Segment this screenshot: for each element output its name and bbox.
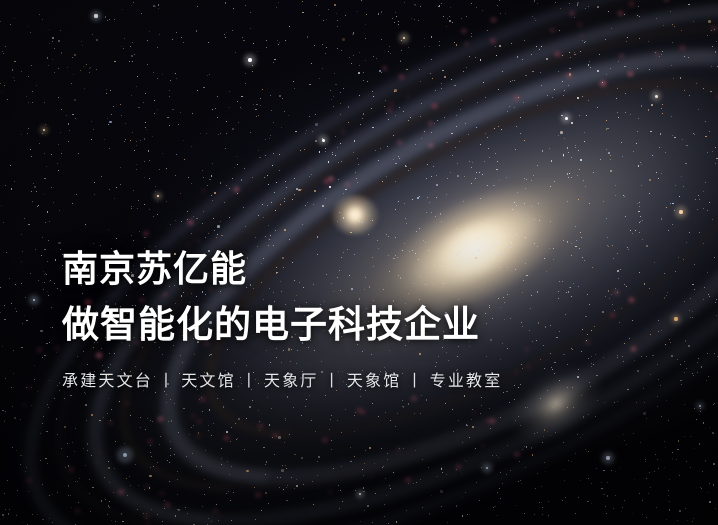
star bbox=[91, 414, 92, 415]
star bbox=[252, 400, 253, 401]
star bbox=[378, 13, 379, 14]
star bbox=[256, 104, 257, 105]
star bbox=[510, 470, 511, 471]
star bbox=[59, 390, 60, 391]
star bbox=[702, 471, 703, 472]
star bbox=[22, 522, 23, 523]
star bbox=[716, 299, 717, 300]
star bbox=[169, 481, 170, 482]
star bbox=[11, 188, 12, 189]
star bbox=[382, 467, 383, 468]
star bbox=[279, 95, 281, 97]
star bbox=[284, 229, 285, 230]
star bbox=[567, 242, 568, 243]
star bbox=[106, 93, 107, 94]
star bbox=[466, 67, 467, 68]
star bbox=[74, 451, 75, 452]
star bbox=[418, 20, 419, 21]
star bbox=[381, 39, 382, 40]
star bbox=[451, 79, 452, 80]
star bbox=[34, 186, 36, 188]
star bbox=[588, 358, 589, 359]
star bbox=[541, 85, 542, 86]
headline-line-1: 南京苏亿能 bbox=[62, 247, 502, 293]
star bbox=[354, 431, 355, 432]
star bbox=[67, 456, 68, 457]
star bbox=[176, 154, 177, 155]
star bbox=[496, 455, 497, 456]
star bbox=[449, 16, 450, 17]
star bbox=[524, 40, 525, 41]
star bbox=[67, 67, 68, 68]
star bbox=[699, 232, 700, 233]
star bbox=[507, 294, 508, 295]
star bbox=[567, 364, 568, 365]
star bbox=[426, 178, 427, 179]
star bbox=[250, 132, 251, 133]
star bbox=[231, 427, 232, 428]
star bbox=[40, 330, 43, 333]
star bbox=[108, 467, 110, 469]
star bbox=[638, 118, 639, 119]
star bbox=[312, 131, 313, 132]
star bbox=[577, 97, 579, 99]
star bbox=[446, 26, 447, 27]
star bbox=[93, 243, 94, 244]
star bbox=[28, 76, 29, 77]
star bbox=[401, 50, 402, 51]
star bbox=[433, 166, 434, 167]
star bbox=[386, 113, 387, 114]
star bbox=[65, 467, 66, 468]
subtitle-separator: 丨 bbox=[153, 370, 181, 392]
star bbox=[617, 401, 618, 402]
star bbox=[447, 18, 448, 19]
hii-region bbox=[329, 491, 331, 493]
star bbox=[282, 98, 283, 99]
star bbox=[503, 297, 504, 298]
star bbox=[660, 133, 661, 134]
star bbox=[330, 419, 331, 420]
star bbox=[144, 237, 145, 238]
star bbox=[183, 408, 184, 409]
star bbox=[565, 497, 566, 498]
star bbox=[241, 108, 242, 109]
star bbox=[217, 225, 220, 228]
star bbox=[75, 481, 76, 482]
star bbox=[630, 114, 631, 115]
star bbox=[260, 98, 261, 99]
star bbox=[355, 172, 356, 173]
star bbox=[32, 102, 33, 103]
star bbox=[2, 410, 3, 411]
star bbox=[212, 163, 213, 164]
star bbox=[337, 420, 338, 421]
star bbox=[224, 34, 225, 35]
star bbox=[197, 6, 198, 7]
star bbox=[108, 229, 109, 230]
star bbox=[573, 283, 574, 284]
star bbox=[415, 144, 416, 145]
star bbox=[399, 158, 400, 159]
star bbox=[550, 435, 551, 436]
hii-region bbox=[405, 478, 410, 482]
star bbox=[657, 459, 658, 460]
star bbox=[153, 466, 154, 467]
star bbox=[385, 100, 386, 101]
star bbox=[414, 413, 415, 414]
star bbox=[408, 483, 409, 484]
star bbox=[387, 459, 388, 460]
star bbox=[571, 461, 572, 462]
star bbox=[87, 450, 88, 451]
star bbox=[237, 193, 238, 194]
star bbox=[701, 488, 702, 489]
star bbox=[563, 442, 564, 443]
star bbox=[355, 412, 356, 413]
star bbox=[493, 185, 494, 186]
star bbox=[265, 139, 266, 140]
star bbox=[457, 163, 458, 164]
star bbox=[133, 2, 134, 3]
star bbox=[255, 237, 256, 238]
star bbox=[421, 138, 422, 139]
star bbox=[337, 26, 338, 27]
star bbox=[549, 248, 550, 249]
star bbox=[16, 450, 17, 451]
star bbox=[452, 22, 453, 23]
star bbox=[709, 501, 710, 502]
star bbox=[564, 138, 565, 139]
star bbox=[157, 514, 158, 515]
star bbox=[26, 387, 27, 388]
star bbox=[618, 117, 619, 118]
star bbox=[178, 509, 179, 510]
star bbox=[661, 173, 662, 174]
bright-star bbox=[679, 210, 682, 213]
star bbox=[273, 62, 274, 63]
star bbox=[340, 92, 341, 93]
star bbox=[544, 429, 545, 430]
star bbox=[323, 20, 324, 21]
star bbox=[666, 207, 667, 208]
star bbox=[684, 301, 685, 302]
star bbox=[632, 233, 633, 234]
star bbox=[684, 90, 685, 91]
star bbox=[46, 343, 47, 344]
star bbox=[284, 111, 285, 112]
star bbox=[49, 495, 50, 496]
star bbox=[518, 97, 519, 98]
star bbox=[461, 18, 462, 19]
star bbox=[280, 477, 281, 478]
star bbox=[637, 370, 639, 372]
star bbox=[245, 5, 246, 6]
star bbox=[512, 80, 513, 81]
star bbox=[591, 483, 592, 484]
star bbox=[362, 118, 363, 119]
star bbox=[57, 288, 58, 289]
star bbox=[246, 470, 249, 473]
bright-star bbox=[674, 317, 677, 320]
star bbox=[141, 13, 142, 14]
star bbox=[520, 480, 521, 481]
star bbox=[542, 442, 543, 443]
star bbox=[664, 273, 665, 274]
star bbox=[177, 509, 178, 510]
star bbox=[625, 93, 626, 94]
star bbox=[712, 432, 714, 434]
star bbox=[73, 74, 74, 75]
star bbox=[133, 190, 134, 191]
star bbox=[592, 267, 593, 268]
star bbox=[388, 523, 389, 524]
star bbox=[590, 67, 591, 68]
star bbox=[619, 322, 620, 323]
star bbox=[546, 58, 548, 60]
star bbox=[680, 364, 681, 365]
star bbox=[359, 218, 360, 219]
star bbox=[715, 508, 716, 509]
star bbox=[49, 43, 50, 44]
star bbox=[42, 19, 43, 20]
bright-star bbox=[322, 139, 325, 142]
star bbox=[49, 281, 50, 282]
star bbox=[469, 56, 470, 57]
star bbox=[386, 176, 387, 177]
hii-region bbox=[158, 417, 163, 421]
star bbox=[707, 492, 708, 493]
star bbox=[640, 216, 641, 217]
star bbox=[641, 356, 642, 357]
star bbox=[360, 521, 361, 522]
star bbox=[58, 170, 59, 171]
bright-star bbox=[248, 58, 252, 62]
star bbox=[168, 421, 169, 422]
star bbox=[567, 173, 568, 174]
subtitle-separator: 丨 bbox=[236, 370, 264, 392]
star bbox=[574, 54, 575, 55]
headline-line-2: 做智能化的电子科技企业 bbox=[62, 301, 502, 349]
star bbox=[512, 209, 513, 210]
star bbox=[218, 134, 219, 135]
star bbox=[618, 61, 619, 62]
star bbox=[336, 13, 337, 14]
star bbox=[94, 182, 95, 183]
star bbox=[275, 230, 276, 231]
star bbox=[229, 474, 230, 475]
star bbox=[105, 499, 106, 500]
star bbox=[114, 61, 115, 62]
star bbox=[502, 71, 503, 72]
star bbox=[518, 387, 519, 388]
star bbox=[331, 440, 332, 441]
star bbox=[703, 422, 704, 423]
star bbox=[589, 203, 590, 204]
star bbox=[382, 181, 383, 182]
star bbox=[481, 405, 482, 406]
star bbox=[49, 29, 50, 30]
star bbox=[270, 95, 271, 96]
star bbox=[81, 41, 82, 42]
star bbox=[514, 80, 515, 81]
star bbox=[31, 191, 32, 192]
star bbox=[131, 95, 132, 96]
star bbox=[129, 476, 130, 477]
star bbox=[307, 202, 308, 203]
star bbox=[568, 177, 569, 178]
star bbox=[406, 510, 407, 511]
star bbox=[524, 203, 525, 204]
star bbox=[107, 20, 108, 21]
star bbox=[38, 280, 39, 281]
star bbox=[31, 65, 32, 66]
star bbox=[441, 83, 442, 84]
star bbox=[496, 55, 497, 56]
star bbox=[256, 116, 257, 117]
star bbox=[621, 511, 622, 512]
hii-region bbox=[631, 347, 636, 351]
star bbox=[85, 465, 86, 466]
star bbox=[127, 495, 128, 496]
star bbox=[454, 42, 455, 43]
star bbox=[348, 106, 349, 107]
star bbox=[460, 109, 461, 110]
star bbox=[705, 428, 706, 429]
star bbox=[329, 186, 330, 187]
bright-star bbox=[565, 117, 568, 120]
star bbox=[636, 402, 637, 403]
star bbox=[624, 66, 625, 67]
star bbox=[317, 236, 318, 237]
star bbox=[58, 40, 60, 42]
star bbox=[562, 55, 563, 56]
star bbox=[365, 450, 366, 451]
star bbox=[198, 432, 199, 433]
star bbox=[313, 504, 314, 505]
star bbox=[524, 513, 525, 514]
star bbox=[669, 339, 670, 340]
star bbox=[136, 141, 137, 142]
star bbox=[661, 54, 662, 55]
star bbox=[4, 421, 5, 422]
star bbox=[642, 514, 643, 515]
star bbox=[68, 495, 69, 496]
star bbox=[709, 202, 710, 203]
star bbox=[333, 96, 334, 97]
star bbox=[639, 272, 640, 273]
star bbox=[294, 454, 295, 455]
star bbox=[147, 64, 148, 65]
star bbox=[145, 93, 146, 94]
star bbox=[83, 448, 84, 449]
star bbox=[75, 118, 76, 119]
star bbox=[269, 138, 270, 139]
star bbox=[201, 397, 202, 398]
star bbox=[111, 409, 112, 410]
star bbox=[649, 69, 650, 70]
star bbox=[582, 96, 583, 97]
star bbox=[607, 495, 608, 496]
star bbox=[393, 472, 394, 473]
star bbox=[670, 342, 671, 343]
star bbox=[496, 169, 497, 170]
star bbox=[170, 448, 171, 449]
star bbox=[419, 69, 420, 70]
star bbox=[177, 494, 178, 495]
star bbox=[487, 185, 488, 186]
star bbox=[645, 459, 646, 460]
hii-region bbox=[214, 510, 217, 513]
hii-region bbox=[329, 177, 333, 181]
star bbox=[422, 459, 423, 460]
hii-region bbox=[515, 453, 519, 456]
star bbox=[170, 80, 171, 81]
star bbox=[271, 408, 272, 409]
star bbox=[608, 152, 610, 154]
star bbox=[570, 57, 571, 58]
star bbox=[560, 131, 563, 134]
star bbox=[540, 359, 541, 360]
star bbox=[90, 511, 91, 512]
star bbox=[716, 158, 717, 159]
star bbox=[577, 376, 578, 377]
star bbox=[154, 100, 155, 101]
star bbox=[30, 273, 31, 274]
star bbox=[503, 237, 504, 238]
star bbox=[597, 400, 598, 401]
star bbox=[20, 464, 21, 465]
star bbox=[638, 6, 639, 7]
star bbox=[216, 504, 217, 505]
star bbox=[204, 479, 205, 480]
star bbox=[305, 406, 306, 407]
star bbox=[338, 485, 339, 486]
star bbox=[476, 127, 477, 128]
star bbox=[549, 148, 550, 149]
star bbox=[282, 465, 283, 466]
star bbox=[480, 413, 481, 414]
star bbox=[577, 2, 579, 4]
star bbox=[265, 492, 267, 494]
star bbox=[187, 513, 188, 514]
star bbox=[664, 441, 665, 442]
star bbox=[421, 395, 422, 396]
subtitle-item: 专业教室 bbox=[430, 371, 503, 390]
star bbox=[172, 109, 173, 110]
star bbox=[537, 165, 538, 166]
star bbox=[597, 70, 599, 72]
star bbox=[476, 172, 477, 173]
star bbox=[570, 68, 571, 69]
star bbox=[149, 178, 150, 179]
star bbox=[585, 316, 586, 317]
star bbox=[111, 520, 112, 521]
star bbox=[130, 415, 131, 416]
star bbox=[537, 291, 538, 292]
star bbox=[649, 179, 651, 181]
star bbox=[404, 2, 405, 3]
star bbox=[241, 96, 242, 97]
star bbox=[58, 97, 59, 98]
star bbox=[684, 56, 685, 57]
star bbox=[405, 165, 406, 166]
star bbox=[147, 40, 148, 41]
star bbox=[375, 150, 376, 151]
star bbox=[417, 197, 419, 199]
star bbox=[424, 131, 425, 132]
star bbox=[121, 115, 122, 116]
